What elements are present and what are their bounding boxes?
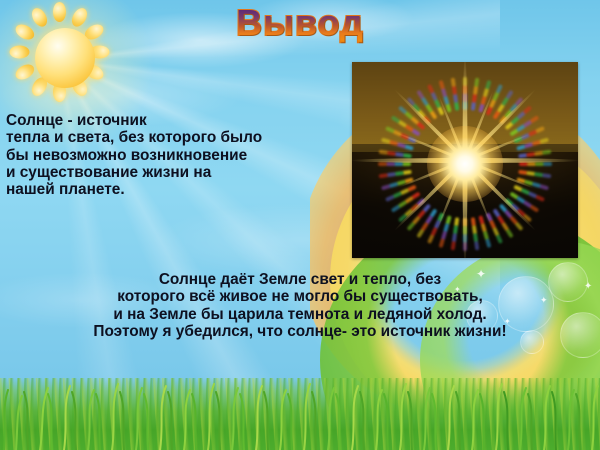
- page-title: Вывод: [0, 2, 600, 44]
- sun-petal: [12, 61, 36, 82]
- sun-starburst-photo: [352, 62, 578, 258]
- grass-blades-icon: [0, 374, 600, 450]
- sun-petal: [28, 75, 49, 99]
- paragraph-conclusion-1: Солнце - источник тепла и света, без кот…: [6, 112, 346, 198]
- sun-petal: [82, 61, 106, 82]
- sun-petal: [9, 46, 29, 59]
- diffraction-segment: [543, 162, 552, 166]
- sun-petal: [68, 75, 89, 99]
- diffraction-segment: [378, 162, 387, 166]
- diffraction-segment: [402, 162, 411, 166]
- sun-petal: [89, 46, 109, 59]
- sun-petal: [53, 82, 66, 102]
- sun-core-flare: [427, 126, 503, 202]
- diffraction-segment: [394, 162, 403, 166]
- slide-canvas: ✦ ✦ ✦ ✦ ✦: [0, 0, 600, 450]
- grass-strip: [0, 378, 600, 450]
- diffraction-segment: [386, 162, 395, 166]
- paragraph-conclusion-2: Солнце даёт Земле свет и тепло, без кото…: [0, 271, 600, 340]
